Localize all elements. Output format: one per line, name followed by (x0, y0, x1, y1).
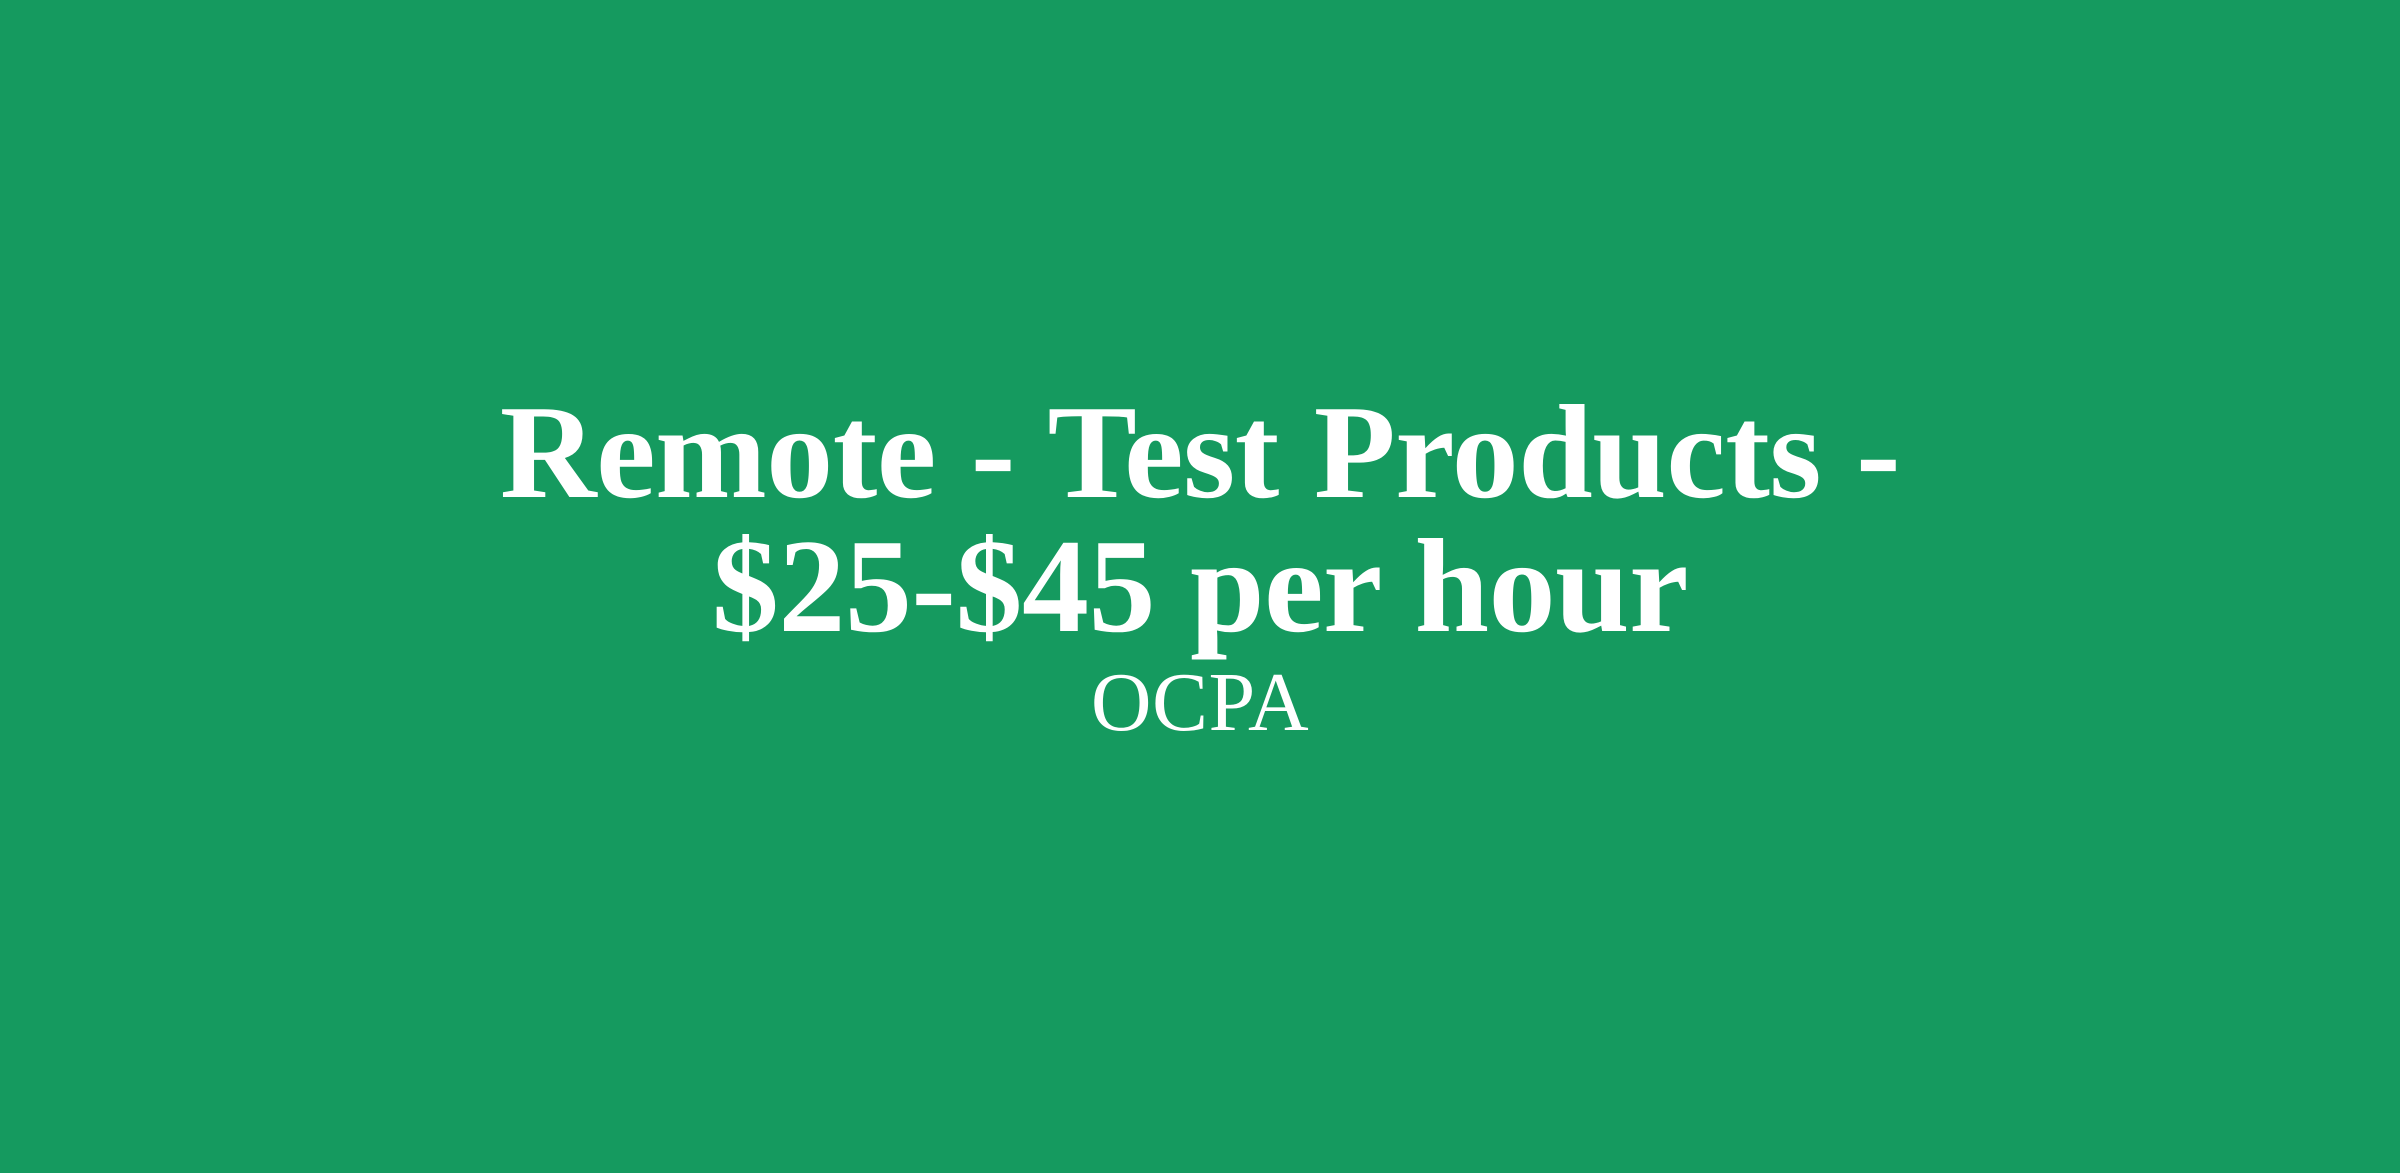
banner-text-block: Remote - Test Products - $25-$45 per hou… (450, 385, 1950, 745)
job-listing-banner: Remote - Test Products - $25-$45 per hou… (0, 0, 2400, 1173)
page-title: Remote - Test Products - $25-$45 per hou… (450, 385, 1950, 653)
organization-name: OCPA (450, 661, 1950, 745)
